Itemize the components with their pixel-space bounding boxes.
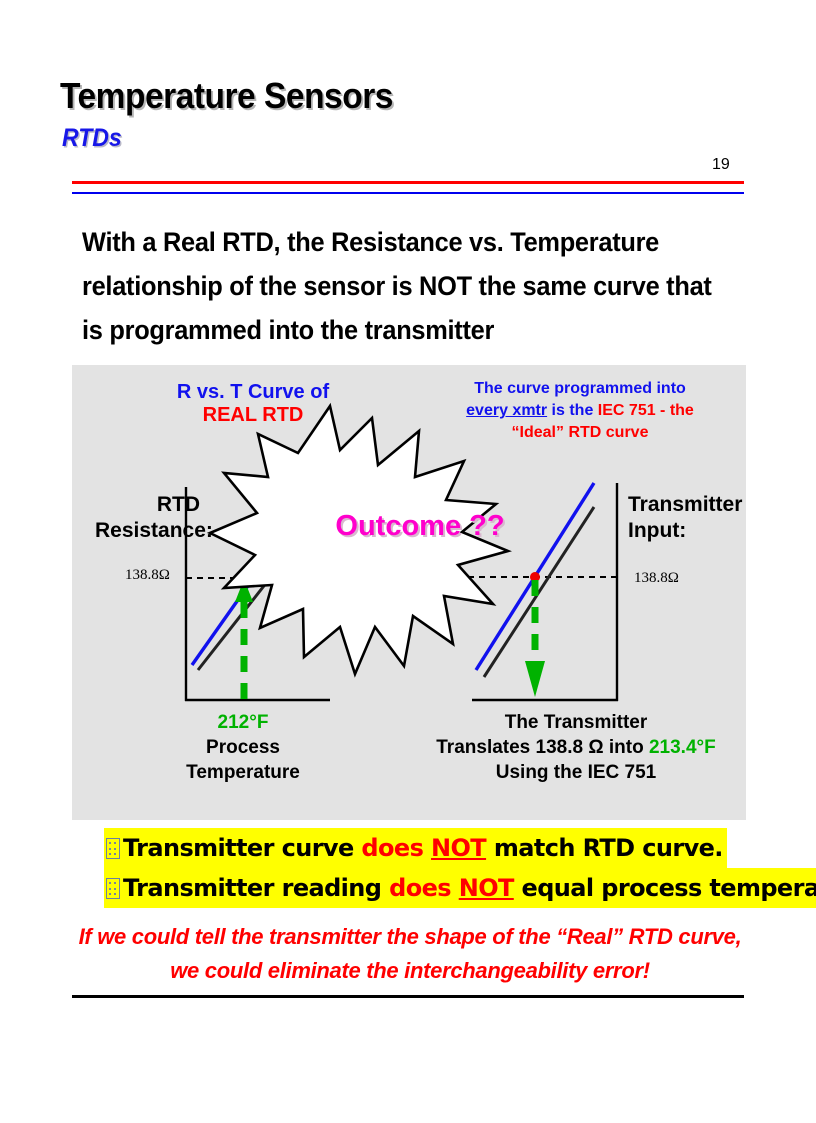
bullet-item-1: Transmitter curve does NOT match RTD cur… bbox=[104, 828, 727, 868]
footer-rule bbox=[72, 995, 744, 998]
page-title: Temperature Sensors bbox=[60, 75, 393, 117]
bullet-item-1-pre: Transmitter curve bbox=[123, 834, 361, 862]
bullet-item-1-not: NOT bbox=[431, 834, 486, 862]
real-rtd-caption-line-2: REAL RTD bbox=[163, 404, 343, 427]
bullet-marker-icon bbox=[106, 838, 120, 859]
real-rtd-caption: R vs. T Curve of REAL RTD bbox=[163, 381, 343, 427]
right-chart-caption-line-1: The Transmitter bbox=[428, 710, 724, 735]
left-chart-caption: 212°F Process Temperature bbox=[150, 710, 336, 785]
closing-statement: If we could tell the transmitter the sha… bbox=[60, 920, 760, 988]
ideal-curve-caption-line-1: The curve programmed into bbox=[455, 378, 705, 400]
left-chart-axis-label: RTD Resistance: bbox=[95, 492, 200, 544]
right-chart-caption-line-2: Translates 138.8 Ω into 213.4°F bbox=[428, 735, 724, 760]
right-chart-axis-label-line-1: Transmitter bbox=[628, 492, 742, 518]
ideal-curve-caption-connector: is the bbox=[547, 402, 598, 419]
real-rtd-caption-line-1: R vs. T Curve of bbox=[163, 381, 343, 404]
header-rule-blue bbox=[72, 192, 744, 194]
lead-paragraph-line-2: relationship of the sensor is NOT the sa… bbox=[82, 264, 684, 308]
lead-paragraph-line-1: With a Real RTD, the Resistance vs. Temp… bbox=[82, 220, 684, 264]
outcome-label: Outcome ?? bbox=[330, 510, 510, 543]
left-chart-green-arrow bbox=[235, 579, 253, 699]
page-subtitle: RTDs bbox=[62, 124, 122, 153]
right-chart-value-label: 138.8Ω bbox=[634, 570, 679, 587]
ideal-curve-caption: The curve programmed into every xmtr is … bbox=[455, 378, 705, 444]
right-chart-caption-temperature: 213.4°F bbox=[649, 737, 716, 758]
ideal-curve-caption-line-3: “Ideal” RTD curve bbox=[455, 422, 705, 444]
bullet-list: Transmitter curve does NOT match RTD cur… bbox=[104, 828, 816, 908]
bullet-item-2-does: does bbox=[389, 874, 459, 902]
bullet-item-2-post: equal process temperature. bbox=[514, 874, 816, 902]
bullet-item-2-not: NOT bbox=[459, 874, 514, 902]
bullet-item-2-pre: Transmitter reading bbox=[123, 874, 389, 902]
right-chart-axis-label-line-2: Input: bbox=[628, 518, 742, 544]
left-chart-value-label: 138.8Ω bbox=[125, 567, 170, 584]
right-chart-caption: The Transmitter Translates 138.8 Ω into … bbox=[428, 710, 724, 785]
bullet-item-2: Transmitter reading does NOT equal proce… bbox=[104, 868, 816, 908]
lead-paragraph-line-3: is programmed into the transmitter bbox=[82, 308, 684, 352]
left-chart-caption-line-3: Temperature bbox=[150, 760, 336, 785]
left-chart-caption-temperature: 212°F bbox=[150, 710, 336, 735]
left-chart-caption-line-2: Process bbox=[150, 735, 336, 760]
right-chart-axis-label: Transmitter Input: bbox=[628, 492, 742, 544]
left-chart-axis-label-line-1: RTD bbox=[95, 492, 200, 518]
ideal-curve-caption-line-2: every xmtr is the IEC 751 - the bbox=[455, 400, 705, 422]
right-chart-caption-translates: Translates 138.8 Ω into bbox=[436, 737, 649, 758]
closing-statement-line-1: If we could tell the transmitter the sha… bbox=[60, 920, 760, 954]
lead-paragraph: With a Real RTD, the Resistance vs. Temp… bbox=[82, 220, 684, 352]
bullet-item-1-post: match RTD curve. bbox=[486, 834, 723, 862]
bullet-item-1-does: does bbox=[361, 834, 431, 862]
right-chart-caption-line-3: Using the IEC 751 bbox=[428, 760, 724, 785]
closing-statement-line-2: we could eliminate the interchangeabilit… bbox=[60, 954, 760, 988]
header-rule-red bbox=[72, 181, 744, 184]
page-number: 19 bbox=[712, 156, 730, 174]
left-chart-axis-label-line-2: Resistance: bbox=[95, 518, 200, 544]
ideal-curve-caption-underlined: every xmtr bbox=[466, 402, 547, 419]
bullet-marker-icon bbox=[106, 878, 120, 899]
ideal-curve-caption-standard: IEC 751 - the bbox=[598, 402, 694, 419]
